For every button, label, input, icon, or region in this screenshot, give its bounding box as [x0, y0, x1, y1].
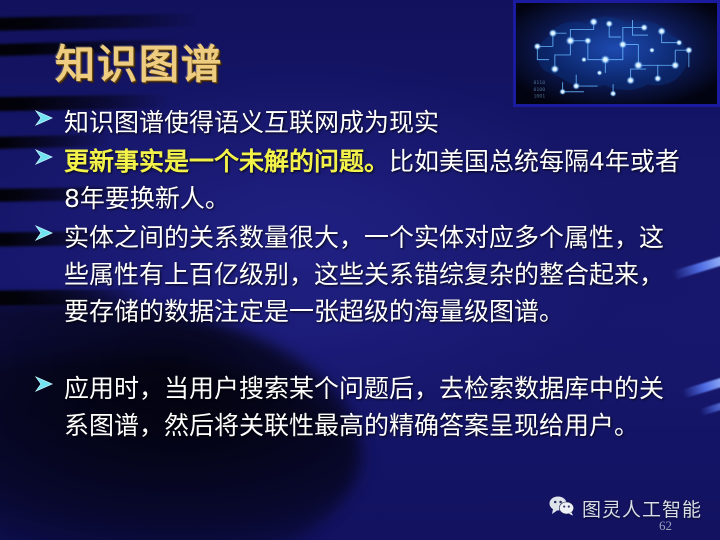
- bullet-item: 应用时，当用户搜索某个问题后，去检索数据库中的关系图谱，然后将关联性最高的精确答…: [34, 370, 680, 444]
- page-number: 62: [659, 518, 672, 534]
- blue-light-streak: [700, 399, 720, 416]
- arrow-bullet-icon: [34, 143, 64, 165]
- svg-text:0100: 0100: [533, 87, 545, 93]
- bullet-item: 知识图谱使得语义互联网成为现实: [34, 104, 680, 141]
- slide-title: 知识图谱: [55, 32, 223, 90]
- arrow-bullet-icon: [34, 104, 64, 126]
- bullet-text: 实体之间的关系数量很大，一个实体对应多个属性，这些属性有上百亿级别，这些关系错综…: [64, 219, 680, 330]
- arrow-bullet-icon: [34, 219, 64, 241]
- bullet-run: 应用时，当用户搜索某个问题后，去检索数据库中的关系图谱，然后将关联性最高的精确答…: [64, 374, 664, 440]
- watermark-text: 图灵人工智能: [582, 495, 702, 522]
- slide-body: 知识图谱使得语义互联网成为现实 更新事实是一个未解的问题。比如美国总统每隔4年或…: [34, 104, 680, 446]
- bullet-text: 更新事实是一个未解的问题。比如美国总统每隔4年或者8年要换新人。: [64, 143, 680, 217]
- bullet-spacer: [34, 332, 680, 370]
- circuit-brain-icon: 0110 0100 1001: [516, 3, 717, 104]
- bullet-item: 更新事实是一个未解的问题。比如美国总统每隔4年或者8年要换新人。: [34, 143, 680, 217]
- circuit-brain-image: 0110 0100 1001: [513, 0, 720, 107]
- arrow-bullet-icon: [34, 370, 64, 392]
- blue-light-streak: [682, 375, 720, 399]
- bullet-run: 知识图谱使得语义互联网成为现实: [64, 108, 439, 137]
- svg-text:0110: 0110: [533, 80, 545, 86]
- bullet-text: 应用时，当用户搜索某个问题后，去检索数据库中的关系图谱，然后将关联性最高的精确答…: [64, 370, 680, 444]
- bullet-item: 实体之间的关系数量很大，一个实体对应多个属性，这些属性有上百亿级别，这些关系错综…: [34, 219, 680, 330]
- dark-stripe: [0, 13, 200, 31]
- wechat-icon: [549, 496, 575, 521]
- bullet-text: 知识图谱使得语义互联网成为现实: [64, 104, 680, 141]
- slide-canvas: 知识图谱: [0, 0, 720, 540]
- watermark: 图灵人工智能: [549, 495, 702, 522]
- svg-text:1001: 1001: [533, 93, 545, 99]
- bullet-run: 实体之间的关系数量很大，一个实体对应多个属性，这些属性有上百亿级别，这些关系错综…: [64, 223, 664, 326]
- bullet-run-highlight: 更新事实是一个未解的问题。: [64, 147, 389, 176]
